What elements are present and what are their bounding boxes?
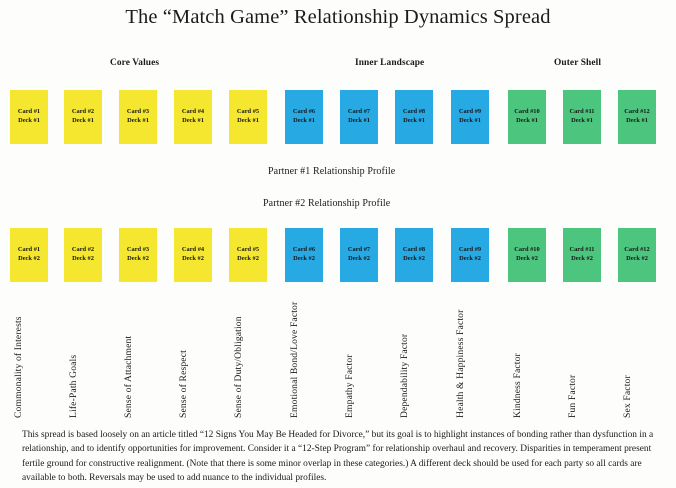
- category-label: Dependability Factor: [399, 334, 410, 418]
- card-number-label: Card #9: [459, 246, 481, 255]
- card-deck-label: Deck #2: [626, 255, 648, 264]
- card-number-label: Card #3: [127, 246, 149, 255]
- card[interactable]: Card #10Deck #1: [508, 90, 546, 144]
- card-number-label: Card #5: [237, 108, 259, 117]
- card[interactable]: Card #1Deck #1: [10, 90, 48, 144]
- card-number-label: Card #12: [624, 108, 649, 117]
- card-deck-label: Deck #2: [571, 255, 593, 264]
- card[interactable]: Card #6Deck #2: [285, 228, 323, 282]
- card[interactable]: Card #12Deck #1: [618, 90, 656, 144]
- card[interactable]: Card #7Deck #1: [340, 90, 378, 144]
- card[interactable]: Card #3Deck #2: [119, 228, 157, 282]
- card[interactable]: Card #8Deck #2: [395, 228, 433, 282]
- card-deck-label: Deck #2: [18, 255, 40, 264]
- card[interactable]: Card #4Deck #1: [174, 90, 212, 144]
- section-header: Core Values: [110, 58, 159, 68]
- category-label: Sex Factor: [622, 375, 633, 418]
- category-label: Life-Path Goals: [68, 355, 79, 418]
- category-label: Sense of Respect: [178, 350, 189, 418]
- card-deck-label: Deck #2: [182, 255, 204, 264]
- card-deck-label: Deck #1: [626, 117, 648, 126]
- card[interactable]: Card #11Deck #2: [563, 228, 601, 282]
- card-deck-label: Deck #2: [127, 255, 149, 264]
- card-number-label: Card #4: [182, 108, 204, 117]
- card-number-label: Card #2: [72, 108, 94, 117]
- card-number-label: Card #6: [293, 108, 315, 117]
- card-number-label: Card #10: [514, 108, 539, 117]
- card-number-label: Card #1: [18, 108, 40, 117]
- card[interactable]: Card #7Deck #2: [340, 228, 378, 282]
- card-deck-label: Deck #2: [237, 255, 259, 264]
- card-deck-label: Deck #1: [72, 117, 94, 126]
- partner-2-profile-label: Partner #2 Relationship Profile: [263, 198, 390, 209]
- card-number-label: Card #11: [569, 108, 594, 117]
- card-deck-label: Deck #1: [403, 117, 425, 126]
- partner-2-card-row: Card #1Deck #2Card #2Deck #2Card #3Deck …: [0, 228, 676, 282]
- category-label: Fun Factor: [567, 375, 578, 418]
- card-number-label: Card #1: [18, 246, 40, 255]
- card-deck-label: Deck #1: [18, 117, 40, 126]
- card-number-label: Card #4: [182, 246, 204, 255]
- category-label: Health & Happiness Factor: [455, 310, 466, 418]
- card[interactable]: Card #2Deck #2: [64, 228, 102, 282]
- card-number-label: Card #11: [569, 246, 594, 255]
- card[interactable]: Card #3Deck #1: [119, 90, 157, 144]
- card-deck-label: Deck #1: [516, 117, 538, 126]
- card-deck-label: Deck #1: [182, 117, 204, 126]
- card[interactable]: Card #2Deck #1: [64, 90, 102, 144]
- card-deck-label: Deck #1: [293, 117, 315, 126]
- card[interactable]: Card #1Deck #2: [10, 228, 48, 282]
- card-deck-label: Deck #2: [72, 255, 94, 264]
- partner-1-card-row: Card #1Deck #1Card #2Deck #1Card #3Deck …: [0, 90, 676, 144]
- card[interactable]: Card #6Deck #1: [285, 90, 323, 144]
- category-label: Commonality of Interests: [13, 316, 24, 418]
- card[interactable]: Card #9Deck #1: [451, 90, 489, 144]
- card[interactable]: Card #9Deck #2: [451, 228, 489, 282]
- card-deck-label: Deck #2: [403, 255, 425, 264]
- card-deck-label: Deck #1: [127, 117, 149, 126]
- card-deck-label: Deck #1: [237, 117, 259, 126]
- category-label: Empathy Factor: [344, 354, 355, 418]
- card-number-label: Card #8: [403, 246, 425, 255]
- card-deck-label: Deck #2: [348, 255, 370, 264]
- card[interactable]: Card #10Deck #2: [508, 228, 546, 282]
- card-number-label: Card #5: [237, 246, 259, 255]
- card[interactable]: Card #5Deck #1: [229, 90, 267, 144]
- card[interactable]: Card #5Deck #2: [229, 228, 267, 282]
- partner-1-profile-label: Partner #1 Relationship Profile: [268, 166, 395, 177]
- category-label: Sense of Attachment: [123, 336, 134, 418]
- card[interactable]: Card #11Deck #1: [563, 90, 601, 144]
- card-deck-label: Deck #2: [459, 255, 481, 264]
- card-deck-label: Deck #2: [293, 255, 315, 264]
- page-title: The “Match Game” Relationship Dynamics S…: [0, 6, 676, 29]
- card-deck-label: Deck #1: [571, 117, 593, 126]
- section-header: Outer Shell: [554, 58, 601, 68]
- card-number-label: Card #9: [459, 108, 481, 117]
- category-label-group: Commonality of InterestsLife-Path GoalsS…: [0, 288, 676, 418]
- category-label: Emotional Bond/Love Factor: [289, 302, 300, 418]
- card-deck-label: Deck #2: [516, 255, 538, 264]
- card-deck-label: Deck #1: [348, 117, 370, 126]
- spread-diagram: The “Match Game” Relationship Dynamics S…: [0, 0, 676, 488]
- card-number-label: Card #7: [348, 108, 370, 117]
- card-number-label: Card #8: [403, 108, 425, 117]
- category-label: Kindness Factor: [512, 353, 523, 418]
- footnote-text: This spread is based loosely on an artic…: [22, 428, 656, 485]
- card[interactable]: Card #4Deck #2: [174, 228, 212, 282]
- card-number-label: Card #6: [293, 246, 315, 255]
- category-label: Sense of Duty/Obligation: [233, 316, 244, 418]
- card-number-label: Card #7: [348, 246, 370, 255]
- section-header: Inner Landscape: [355, 58, 424, 68]
- card-number-label: Card #10: [514, 246, 539, 255]
- card-number-label: Card #3: [127, 108, 149, 117]
- card-number-label: Card #2: [72, 246, 94, 255]
- card[interactable]: Card #12Deck #2: [618, 228, 656, 282]
- card[interactable]: Card #8Deck #1: [395, 90, 433, 144]
- card-number-label: Card #12: [624, 246, 649, 255]
- card-deck-label: Deck #1: [459, 117, 481, 126]
